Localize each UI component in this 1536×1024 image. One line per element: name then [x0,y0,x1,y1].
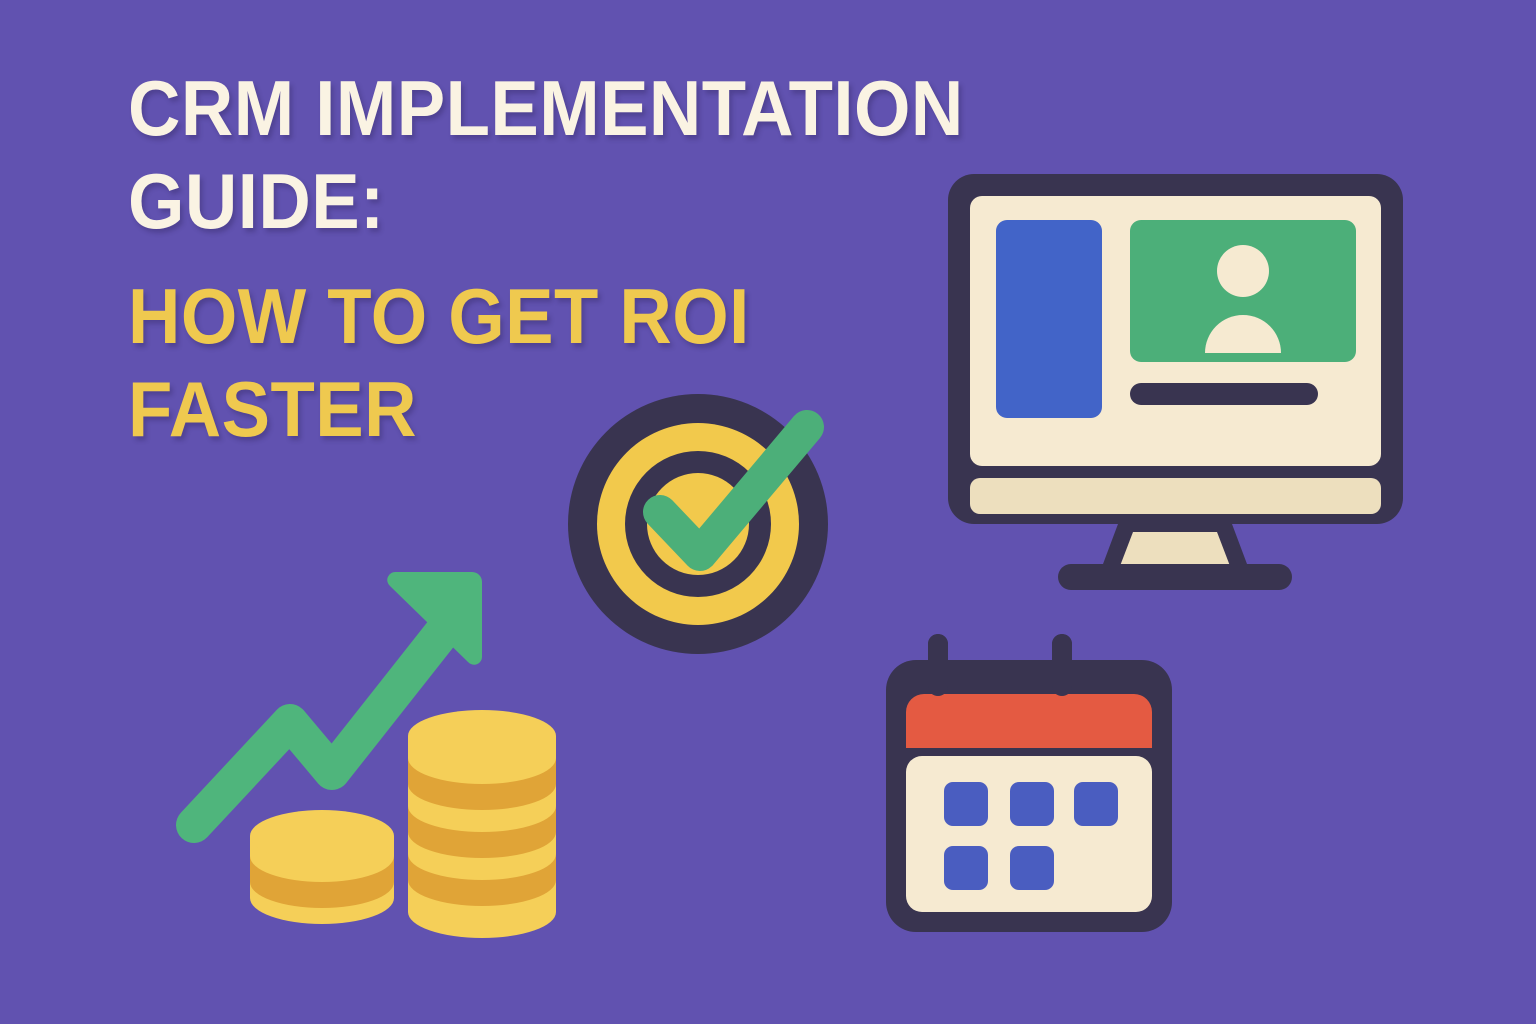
calendar-ring-right-front [1052,634,1072,696]
calendar-day-cell [1010,782,1054,826]
monitor-illustration [930,168,1420,598]
calendar-ring-left-front [928,634,948,696]
title-line-accent-1: HOW TO GET ROI [128,270,984,363]
dashboard-sidebar [996,220,1102,418]
coin-top-face [250,810,394,862]
coin-stack-short [250,810,394,924]
contact-avatar-head [1217,245,1269,297]
monitor-bottom-bezel [970,478,1381,514]
monitor-stand [1120,532,1230,566]
growth-coins-illustration [180,560,580,945]
title-line-primary-1: CRM IMPLEMENTATION [128,62,984,155]
coin-top-face [408,710,556,762]
calendar-day-cell [944,846,988,890]
dashboard-text-bar [1130,383,1318,405]
calendar-illustration [868,626,1208,946]
title-line-primary-2: GUIDE: [128,155,984,248]
coin-stack-tall [408,710,556,938]
calendar-day-cell [1010,846,1054,890]
target-checkmark-illustration [562,388,858,660]
calendar-day-cell [944,782,988,826]
calendar-header [906,694,1152,748]
monitor-base [1058,564,1292,590]
calendar-day-cell [1074,782,1118,826]
poster-canvas: CRM IMPLEMENTATION GUIDE: HOW TO GET ROI… [0,0,1536,1024]
